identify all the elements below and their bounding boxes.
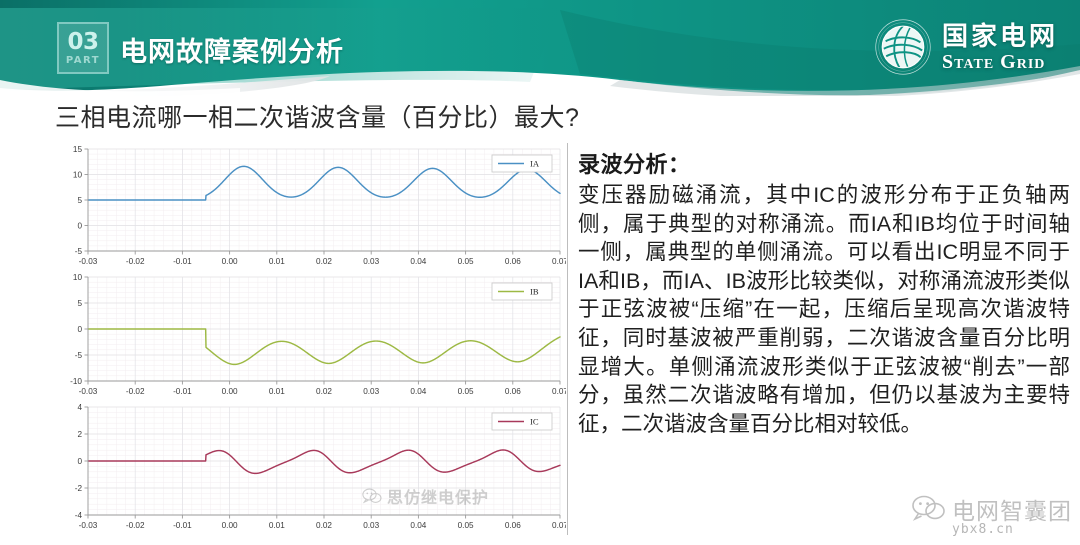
svg-text:0.02: 0.02 — [316, 257, 332, 266]
corner-watermark-text: 电网智囊团 — [952, 492, 1072, 526]
chart-IC: 420-2-4-0.03-0.02-0.010.000.010.020.030.… — [46, 401, 566, 535]
logo-chinese: 国家电网 — [942, 23, 1058, 49]
svg-text:0.04: 0.04 — [410, 521, 426, 530]
waveform-charts: 151050-5-0.03-0.02-0.010.000.010.020.030… — [46, 143, 566, 535]
svg-text:0.06: 0.06 — [505, 521, 521, 530]
svg-text:5: 5 — [77, 299, 82, 308]
svg-text:0.05: 0.05 — [458, 257, 474, 266]
part-badge: 03 PART — [57, 22, 109, 74]
svg-text:IB: IB — [530, 287, 539, 297]
svg-text:-0.02: -0.02 — [126, 521, 145, 530]
svg-text:-0.03: -0.03 — [79, 387, 98, 396]
svg-text:-10: -10 — [70, 377, 82, 386]
svg-text:0.07: 0.07 — [552, 257, 566, 266]
svg-text:IC: IC — [530, 417, 539, 427]
svg-text:-5: -5 — [75, 247, 83, 256]
svg-text:0: 0 — [77, 325, 82, 334]
logo-wordmark: 国家电网 State Grid — [942, 23, 1058, 72]
column-divider — [567, 143, 568, 535]
svg-text:-0.03: -0.03 — [79, 257, 98, 266]
svg-text:-0.02: -0.02 — [126, 257, 145, 266]
svg-text:0.00: 0.00 — [222, 521, 238, 530]
svg-text:-0.01: -0.01 — [173, 521, 192, 530]
svg-text:0.02: 0.02 — [316, 521, 332, 530]
svg-text:0.04: 0.04 — [410, 387, 426, 396]
svg-text:-0.02: -0.02 — [126, 387, 145, 396]
svg-text:0.07: 0.07 — [552, 521, 566, 530]
corner-watermark-url: ybx8.cn — [952, 522, 1014, 537]
svg-text:0.00: 0.00 — [222, 257, 238, 266]
svg-text:0.01: 0.01 — [269, 387, 285, 396]
svg-text:0.03: 0.03 — [363, 387, 379, 396]
svg-text:10: 10 — [73, 171, 83, 180]
globe-icon — [874, 18, 932, 76]
svg-text:0.04: 0.04 — [410, 257, 426, 266]
svg-text:0.01: 0.01 — [269, 521, 285, 530]
svg-text:0.01: 0.01 — [269, 257, 285, 266]
svg-text:0.05: 0.05 — [458, 521, 474, 530]
svg-text:0: 0 — [77, 222, 82, 231]
logo-english: State Grid — [942, 52, 1058, 72]
chart-IC: 420-2-4-0.03-0.02-0.010.000.010.020.030.… — [46, 401, 566, 535]
chart-IB: 1050-5-10-0.03-0.02-0.010.000.010.020.03… — [46, 271, 566, 401]
slide-header: 03 PART 电网故障案例分析 国家电网 State Gr — [0, 0, 1080, 96]
svg-text:0.06: 0.06 — [505, 387, 521, 396]
svg-text:0.05: 0.05 — [458, 387, 474, 396]
chart-IA: 151050-5-0.03-0.02-0.010.000.010.020.030… — [46, 143, 566, 271]
svg-text:15: 15 — [73, 145, 83, 154]
analysis-heading: 录波分析： — [578, 147, 1070, 179]
part-number: 03 — [67, 31, 98, 54]
svg-text:0: 0 — [77, 457, 82, 466]
legend-IA[interactable]: IA — [492, 155, 552, 172]
svg-text:-0.01: -0.01 — [173, 387, 192, 396]
chart-IB: 1050-5-10-0.03-0.02-0.010.000.010.020.03… — [46, 271, 566, 401]
svg-text:2: 2 — [77, 430, 82, 439]
legend-IB[interactable]: IB — [492, 283, 552, 300]
svg-text:0.02: 0.02 — [316, 387, 332, 396]
header-title: 电网故障案例分析 — [120, 30, 344, 69]
svg-text:-5: -5 — [75, 351, 83, 360]
corner-watermark: 电网智囊团 ybx8.cn — [912, 492, 1072, 537]
svg-text:10: 10 — [73, 273, 83, 282]
part-word: PART — [66, 56, 100, 66]
svg-text:4: 4 — [77, 403, 82, 412]
analysis-body: 变压器励磁涌流，其中IC的波形分布于正负轴两侧，属于典型的对称涌流。而IA和IB… — [578, 181, 1070, 438]
svg-text:0.00: 0.00 — [222, 387, 238, 396]
svg-text:0.06: 0.06 — [505, 257, 521, 266]
chart-IA: 151050-5-0.03-0.02-0.010.000.010.020.030… — [46, 143, 566, 271]
svg-text:-0.01: -0.01 — [173, 257, 192, 266]
svg-text:0.03: 0.03 — [363, 521, 379, 530]
question-title: 三相电流哪一相二次谐波含量（百分比）最大? — [55, 98, 579, 134]
state-grid-logo: 国家电网 State Grid — [874, 18, 1058, 76]
svg-text:IA: IA — [530, 159, 540, 169]
slide-root: 03 PART 电网故障案例分析 国家电网 State Gr — [0, 0, 1080, 545]
svg-text:5: 5 — [77, 196, 82, 205]
analysis-panel: 录波分析： 变压器励磁涌流，其中IC的波形分布于正负轴两侧，属于典型的对称涌流。… — [578, 147, 1070, 438]
svg-text:-4: -4 — [75, 511, 83, 520]
svg-text:-0.03: -0.03 — [79, 521, 98, 530]
svg-text:0.07: 0.07 — [552, 387, 566, 396]
svg-text:-2: -2 — [75, 484, 83, 493]
legend-IC[interactable]: IC — [492, 413, 552, 430]
wechat-icon — [912, 495, 946, 523]
svg-text:0.03: 0.03 — [363, 257, 379, 266]
